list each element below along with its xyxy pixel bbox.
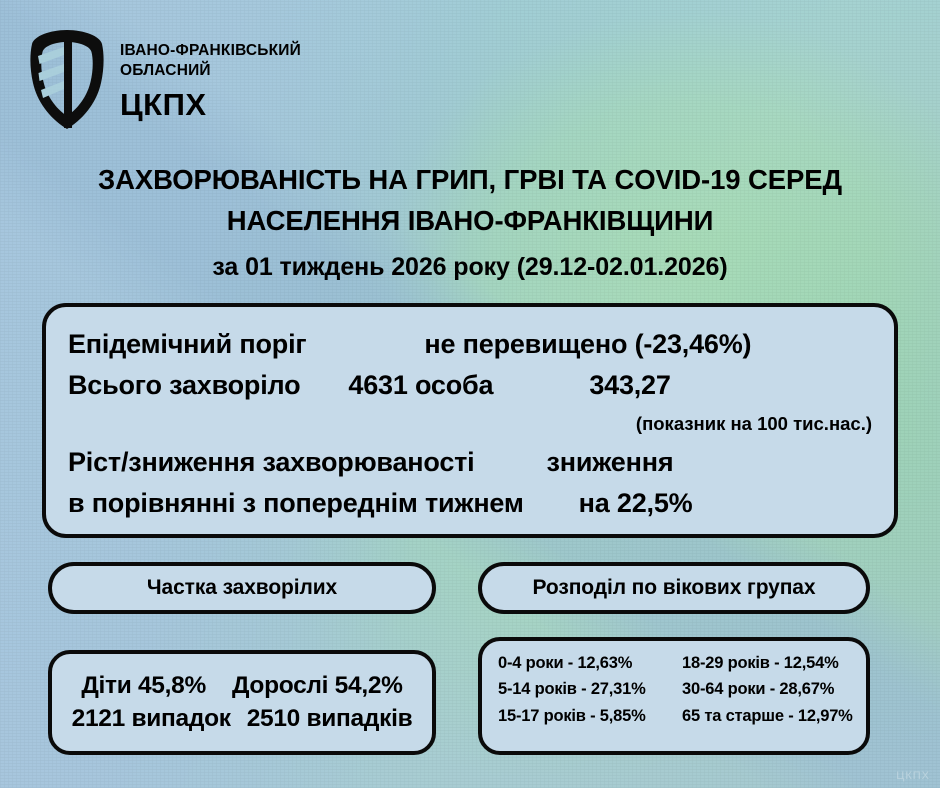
age-groups-card: 0-4 роки - 12,63% 18-29 років - 12,54% 5…	[478, 637, 870, 755]
watermark-text: ЦКПХ	[896, 770, 930, 782]
age-group-item: 65 та старше - 12,97%	[682, 705, 854, 728]
share-heading-text: Частка захворілих	[147, 576, 337, 600]
title-line-2: НАСЕЛЕННЯ ІВАНО-ФРАНКІВЩИНИ	[0, 201, 940, 242]
share-card: Діти 45,8% Дорослі 54,2% 2121 випадок 25…	[48, 650, 436, 755]
epidemic-threshold-label: Епідемічний поріг	[68, 329, 306, 360]
total-cases-row: Всього захворіло 4631 особа 343,27	[46, 370, 894, 401]
share-percent-line: Діти 45,8% Дорослі 54,2%	[66, 670, 418, 703]
brand-header: ІВАНО-ФРАНКІВСЬКИЙ ОБЛАСНИЙ ЦКПХ	[28, 28, 301, 132]
adults-percent: Дорослі 54,2%	[232, 670, 403, 703]
trend-label-line-2: в порівнянні з попереднім тижнем	[68, 488, 524, 519]
total-cases-value: 4631 особа	[348, 370, 493, 401]
shield-heart-logo-icon	[28, 28, 106, 132]
title-line-1: ЗАХВОРЮВАНІСТЬ НА ГРИП, ГРВІ ТА COVID-19…	[0, 160, 940, 201]
poster-root: ІВАНО-ФРАНКІВСЬКИЙ ОБЛАСНИЙ ЦКПХ ЗАХВОРЮ…	[0, 0, 940, 788]
age-groups-section-heading: Розподіл по вікових групах	[478, 562, 870, 614]
trend-value-direction: зниження	[546, 447, 673, 478]
content-root: ІВАНО-ФРАНКІВСЬКИЙ ОБЛАСНИЙ ЦКПХ ЗАХВОРЮ…	[0, 0, 940, 788]
main-stats-inner: Епідемічний поріг не перевищено (-23,46%…	[46, 307, 894, 534]
age-group-item: 0-4 роки - 12,63%	[498, 652, 670, 675]
incidence-rate-value: 343,27	[589, 370, 670, 401]
trend-row-2: в порівнянні з попереднім тижнем на 22,5…	[46, 488, 894, 519]
age-groups-grid: 0-4 роки - 12,63% 18-29 років - 12,54% 5…	[482, 641, 866, 751]
adults-cases: 2510 випадків	[247, 703, 413, 736]
trend-value-amount: на 22,5%	[579, 488, 693, 519]
age-group-item: 18-29 років - 12,54%	[682, 652, 854, 675]
share-counts-line: 2121 випадок 2510 випадків	[66, 703, 418, 736]
total-cases-label: Всього захворіло	[68, 370, 300, 401]
page-title: ЗАХВОРЮВАНІСТЬ НА ГРИП, ГРВІ ТА COVID-19…	[0, 160, 940, 282]
org-line-2: ОБЛАСНИЙ	[120, 61, 301, 81]
children-percent: Діти 45,8%	[81, 670, 206, 703]
age-group-item: 15-17 років - 5,85%	[498, 705, 670, 728]
age-group-item: 30-64 роки - 28,67%	[682, 678, 854, 701]
incidence-rate-note-row: (показник на 100 тис.нас.)	[46, 413, 894, 435]
share-section-heading: Частка захворілих	[48, 562, 436, 614]
org-abbreviation: ЦКПХ	[120, 88, 301, 122]
share-card-inner: Діти 45,8% Дорослі 54,2% 2121 випадок 25…	[52, 654, 432, 761]
children-cases: 2121 випадок	[72, 703, 231, 736]
epidemic-threshold-value: не перевищено (-23,46%)	[424, 329, 751, 360]
trend-label-line-1: Ріст/зниження захворюваності	[68, 447, 474, 478]
main-stats-card: Епідемічний поріг не перевищено (-23,46%…	[42, 303, 898, 538]
age-groups-heading-text: Розподіл по вікових групах	[533, 576, 816, 600]
brand-text-block: ІВАНО-ФРАНКІВСЬКИЙ ОБЛАСНИЙ ЦКПХ	[120, 28, 301, 122]
age-group-item: 5-14 років - 27,31%	[498, 678, 670, 701]
epidemic-threshold-row: Епідемічний поріг не перевищено (-23,46%…	[46, 329, 894, 360]
trend-row-1: Ріст/зниження захворюваності зниження	[46, 447, 894, 478]
title-period: за 01 тиждень 2026 року (29.12-02.01.202…	[0, 253, 940, 282]
incidence-rate-note: (показник на 100 тис.нас.)	[636, 413, 872, 435]
org-line-1: ІВАНО-ФРАНКІВСЬКИЙ	[120, 41, 301, 61]
